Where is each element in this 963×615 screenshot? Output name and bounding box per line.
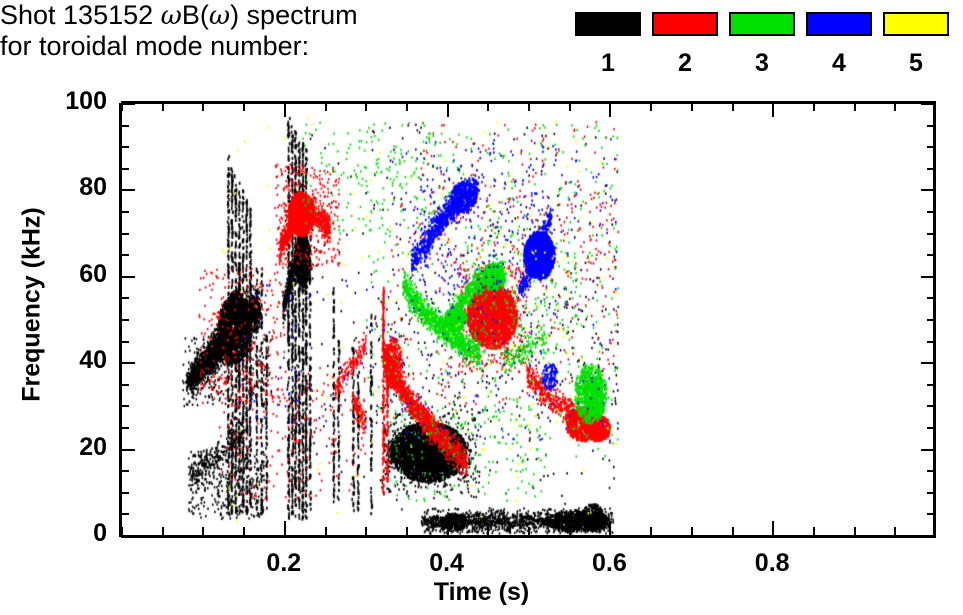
x-major-tick-top xyxy=(284,103,286,117)
y-tick-label: 40 xyxy=(3,346,107,375)
x-minor-tick xyxy=(162,527,164,535)
legend-swatch-n1 xyxy=(575,12,641,36)
title-mid: B( xyxy=(182,0,209,30)
y-minor-tick xyxy=(121,470,129,472)
x-minor-tick xyxy=(528,527,530,535)
y-minor-tick-right xyxy=(927,384,935,386)
y-minor-tick xyxy=(121,168,129,170)
y-minor-tick-right xyxy=(927,492,935,494)
y-minor-tick-right xyxy=(927,470,935,472)
y-tick-label: 100 xyxy=(3,87,107,116)
x-major-tick xyxy=(284,521,286,535)
legend-label-n4: 4 xyxy=(806,49,872,78)
spectrogram-canvas xyxy=(121,103,933,535)
y-minor-tick xyxy=(121,427,129,429)
y-minor-tick-right xyxy=(927,211,935,213)
x-minor-tick xyxy=(325,527,327,535)
legend-swatch-n5 xyxy=(883,12,949,36)
y-major-tick xyxy=(121,362,135,364)
y-minor-tick xyxy=(121,384,129,386)
x-major-tick-top xyxy=(772,103,774,117)
x-minor-tick xyxy=(854,527,856,535)
y-minor-tick-right xyxy=(927,254,935,256)
y-major-tick xyxy=(121,103,135,105)
y-major-tick-right xyxy=(921,449,935,451)
x-minor-tick xyxy=(406,527,408,535)
y-minor-tick-right xyxy=(927,297,935,299)
y-minor-tick-right xyxy=(927,125,935,127)
y-minor-tick xyxy=(121,319,129,321)
y-minor-tick-right xyxy=(927,427,935,429)
x-minor-tick-top xyxy=(243,103,245,111)
x-minor-tick xyxy=(365,527,367,535)
x-major-tick-top xyxy=(609,103,611,117)
x-minor-tick-top xyxy=(894,103,896,111)
x-minor-tick-top xyxy=(202,103,204,111)
legend-item-n5: 5 xyxy=(883,12,949,78)
x-tick-label: 0.6 xyxy=(592,549,627,578)
y-major-tick xyxy=(121,535,135,537)
x-minor-tick-top xyxy=(406,103,408,111)
legend-label-n3: 3 xyxy=(729,49,795,78)
x-minor-tick-top xyxy=(569,103,571,111)
omega-symbol-1: ω xyxy=(161,1,182,31)
y-minor-tick-right xyxy=(927,341,935,343)
y-minor-tick xyxy=(121,254,129,256)
x-minor-tick-top xyxy=(365,103,367,111)
x-minor-tick-top xyxy=(813,103,815,111)
y-tick-label: 20 xyxy=(3,433,107,462)
x-minor-tick xyxy=(569,527,571,535)
x-axis-line xyxy=(121,535,936,538)
legend-item-n2: 2 xyxy=(652,12,718,78)
x-major-tick-top xyxy=(447,103,449,117)
x-minor-tick xyxy=(813,527,815,535)
x-tick-label: 0.4 xyxy=(429,549,464,578)
y-minor-tick xyxy=(121,341,129,343)
x-major-tick xyxy=(772,521,774,535)
x-minor-tick xyxy=(650,527,652,535)
x-tick-label: 0.2 xyxy=(266,549,301,578)
x-minor-tick-top xyxy=(325,103,327,111)
y-minor-tick-right xyxy=(927,405,935,407)
y-minor-tick xyxy=(121,492,129,494)
y-minor-tick xyxy=(121,211,129,213)
omega-symbol-2: ω xyxy=(209,1,230,31)
x-axis-label: Time (s) xyxy=(0,578,963,607)
legend-swatch-n2 xyxy=(652,12,718,36)
y-major-tick-right xyxy=(921,189,935,191)
y-major-tick xyxy=(121,449,135,451)
x-minor-tick xyxy=(121,527,123,535)
y-major-tick-right xyxy=(921,362,935,364)
legend-swatch-n3 xyxy=(729,12,795,36)
x-major-tick xyxy=(447,521,449,535)
y-major-tick xyxy=(121,189,135,191)
legend-label-n5: 5 xyxy=(883,49,949,78)
y-minor-tick xyxy=(121,125,129,127)
y-tick-label: 80 xyxy=(3,173,107,202)
legend-item-n1: 1 xyxy=(575,12,641,78)
x-minor-tick xyxy=(732,527,734,535)
x-minor-tick-top xyxy=(691,103,693,111)
x-minor-tick-top xyxy=(732,103,734,111)
title-suffix: ) spectrum xyxy=(230,0,358,30)
y-minor-tick xyxy=(121,297,129,299)
y-minor-tick xyxy=(121,513,129,515)
x-minor-tick xyxy=(894,527,896,535)
x-minor-tick xyxy=(691,527,693,535)
x-minor-tick xyxy=(202,527,204,535)
y-tick-label: 60 xyxy=(3,260,107,289)
y-major-tick-right xyxy=(921,535,935,537)
legend-label-n2: 2 xyxy=(652,49,718,78)
y-minor-tick-right xyxy=(927,168,935,170)
x-major-tick xyxy=(609,521,611,535)
spectrogram-figure: Shot 135152 ωB(ω) spectrum for toroidal … xyxy=(0,0,963,615)
y-major-tick-right xyxy=(921,103,935,105)
x-minor-tick-top xyxy=(528,103,530,111)
plot-area xyxy=(121,103,935,535)
y-minor-tick xyxy=(121,405,129,407)
legend-item-n4: 4 xyxy=(806,12,872,78)
y-minor-tick xyxy=(121,233,129,235)
x-minor-tick xyxy=(243,527,245,535)
legend: 12345 xyxy=(575,12,955,90)
y-major-tick-right xyxy=(921,276,935,278)
legend-item-n3: 3 xyxy=(729,12,795,78)
y-minor-tick xyxy=(121,146,129,148)
x-minor-tick-top xyxy=(487,103,489,111)
y-major-tick xyxy=(121,276,135,278)
x-minor-tick-top xyxy=(650,103,652,111)
y-tick-label: 0 xyxy=(3,519,107,548)
x-minor-tick xyxy=(487,527,489,535)
y-minor-tick-right xyxy=(927,146,935,148)
title-prefix: Shot 135152 xyxy=(0,0,161,30)
y-minor-tick-right xyxy=(927,513,935,515)
y-minor-tick-right xyxy=(927,319,935,321)
y-minor-tick-right xyxy=(927,233,935,235)
x-minor-tick-top xyxy=(162,103,164,111)
legend-label-n1: 1 xyxy=(575,49,641,78)
x-tick-label: 0.8 xyxy=(755,549,790,578)
legend-swatch-n4 xyxy=(806,12,872,36)
x-minor-tick-top xyxy=(854,103,856,111)
